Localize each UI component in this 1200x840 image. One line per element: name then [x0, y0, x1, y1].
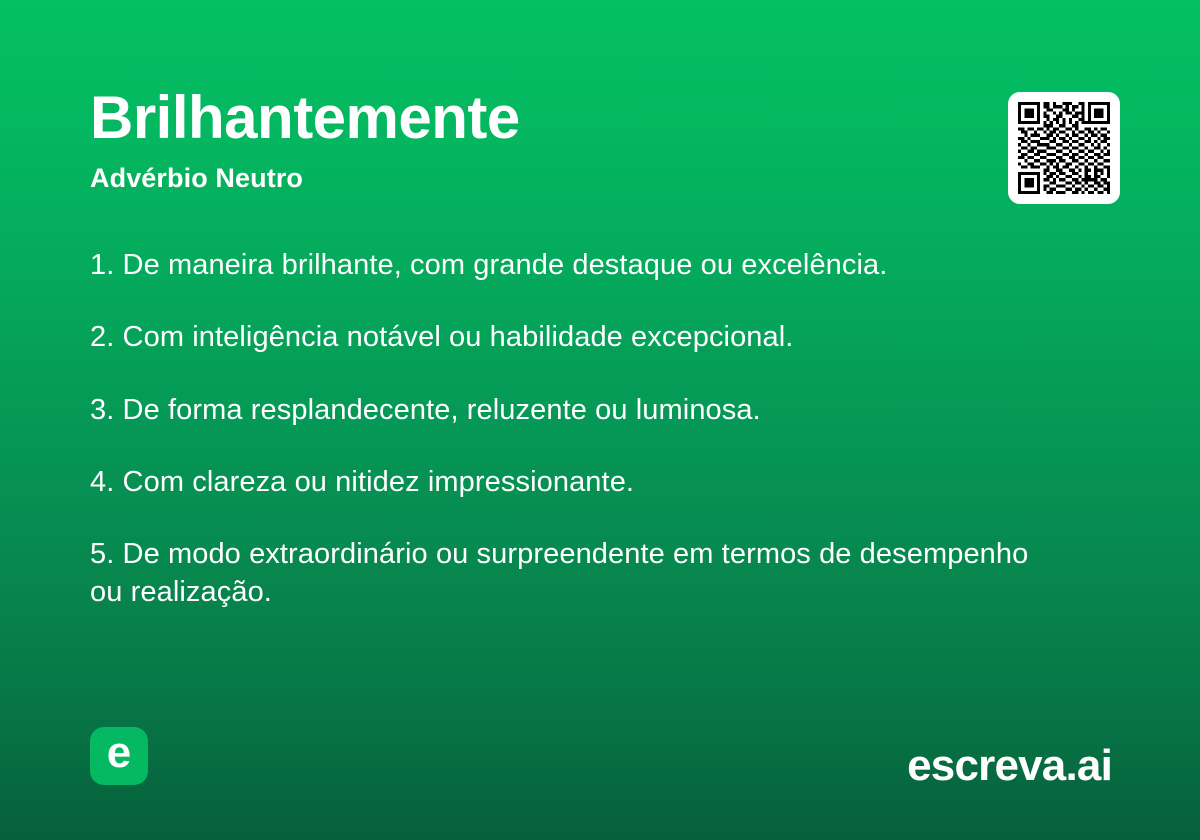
qr-code-icon [1018, 102, 1110, 194]
brand-wordmark[interactable]: escreva.ai [907, 744, 1112, 788]
brand-logo-letter: e [107, 731, 131, 775]
definition-list: 1. De maneira brilhante, com grande dest… [90, 246, 1050, 612]
list-item: 4. Com clareza ou nitidez impressionante… [90, 463, 1050, 501]
list-item: 3. De forma resplandecente, reluzente ou… [90, 391, 1050, 429]
list-item: 2. Com inteligência notável ou habilidad… [90, 318, 1050, 356]
word-class-label: Advérbio Neutro [90, 148, 970, 194]
card-header: Brilhantemente Advérbio Neutro [90, 88, 970, 194]
word-definition-card: Brilhantemente Advérbio Neutro 1. De man… [0, 0, 1200, 840]
page-title: Brilhantemente [90, 88, 970, 148]
qr-code-container[interactable] [1008, 92, 1120, 204]
list-item: 5. De modo extraordinário ou surpreenden… [90, 535, 1050, 612]
brand-logo-mark[interactable]: e [90, 727, 148, 785]
list-item: 1. De maneira brilhante, com grande dest… [90, 246, 1050, 284]
